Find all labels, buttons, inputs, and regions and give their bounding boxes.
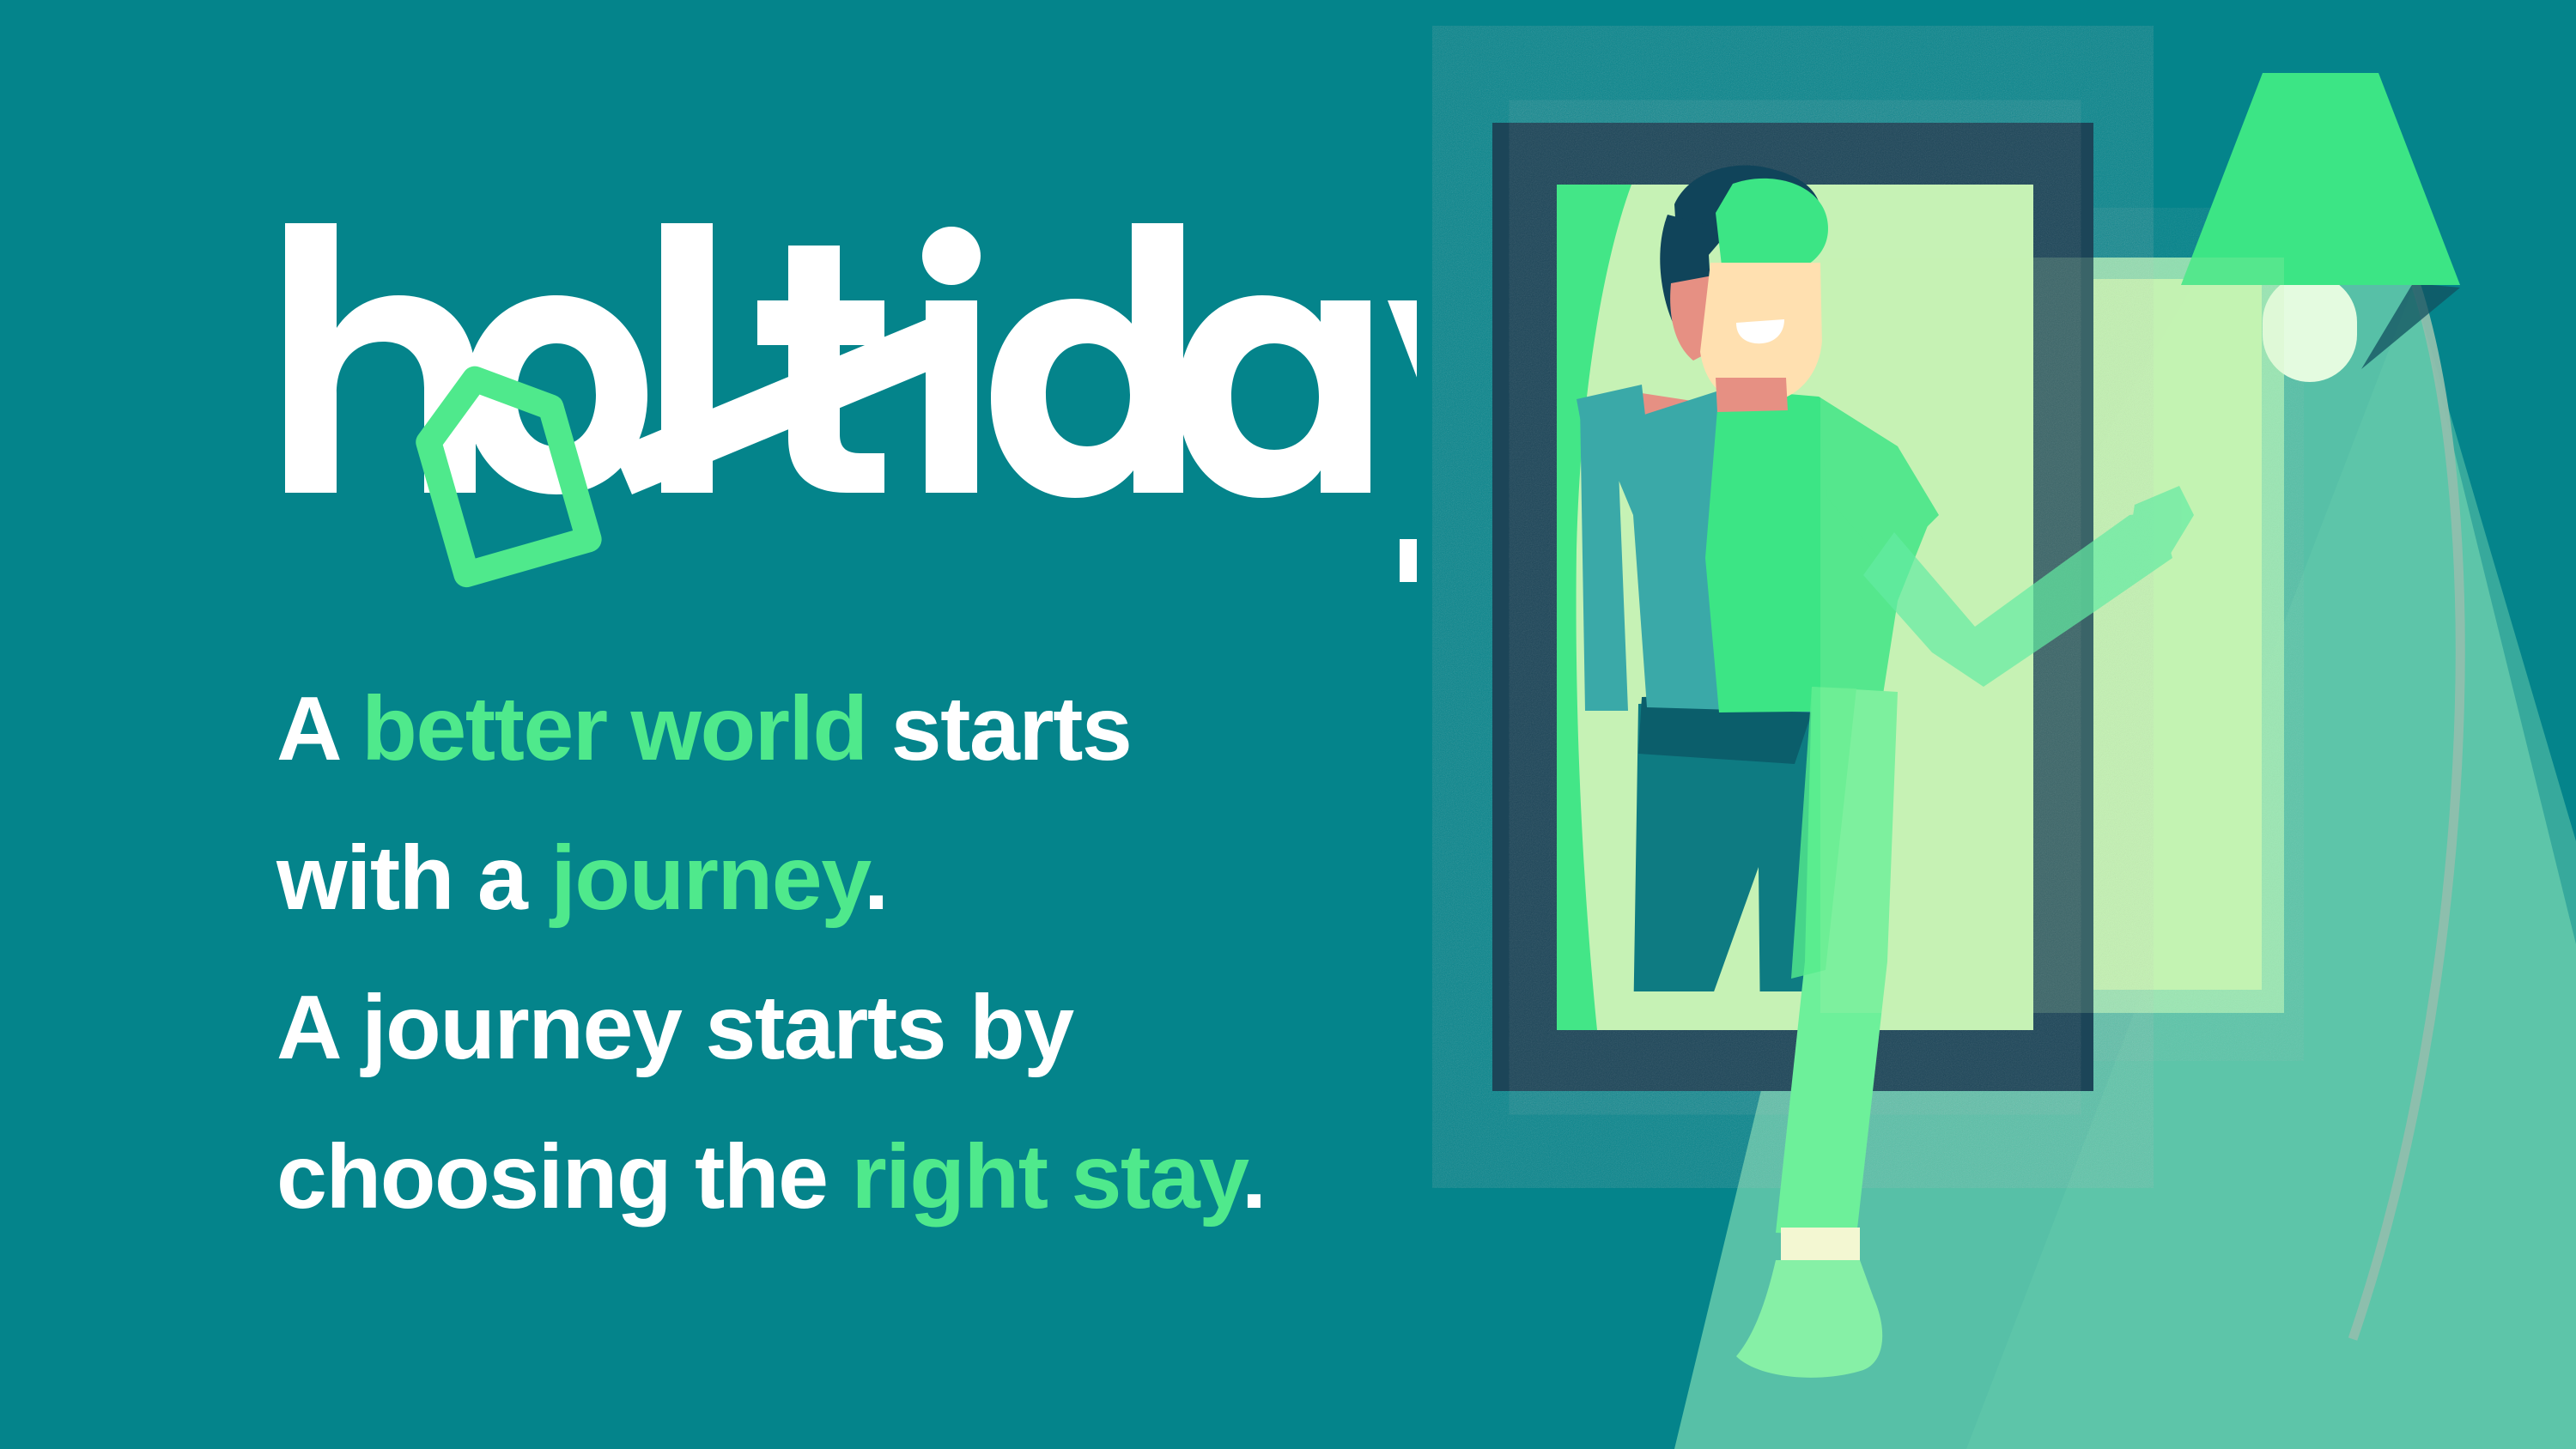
tagline-seg: with a <box>276 828 550 929</box>
banner-canvas: A better world starts with a journey. A … <box>0 0 2576 1449</box>
tagline-line-3: A journey starts by <box>276 953 1427 1102</box>
tagline-seg-accent: right stay <box>852 1126 1242 1228</box>
holiday-logo[interactable] <box>273 216 1183 491</box>
person-ankle <box>1781 1228 1860 1262</box>
tagline-seg: A journey starts by <box>276 977 1073 1078</box>
tagline-seg: . <box>864 828 888 929</box>
tagline-seg: . <box>1242 1126 1266 1228</box>
tagline-seg-accent: better world <box>361 678 867 779</box>
tagline: A better world starts with a journey. A … <box>276 654 1427 1252</box>
tagline-seg: starts <box>867 678 1132 779</box>
hero-illustration <box>1417 0 2576 1449</box>
tagline-seg: A <box>276 678 361 779</box>
tagline-line-1: A better world starts <box>276 654 1427 803</box>
holiday-wordmark-ay <box>273 216 1183 491</box>
illustration-svg <box>1417 0 2576 1449</box>
poster-glow <box>1820 258 2284 1013</box>
brand-content-column: A better world starts with a journey. A … <box>0 0 1460 1449</box>
tagline-line-4: choosing the right stay. <box>276 1102 1427 1252</box>
tagline-seg: choosing the <box>276 1126 852 1228</box>
tagline-line-2: with a journey. <box>276 803 1427 953</box>
person-neck <box>1716 378 1788 412</box>
tagline-seg-accent: journey <box>550 828 864 929</box>
